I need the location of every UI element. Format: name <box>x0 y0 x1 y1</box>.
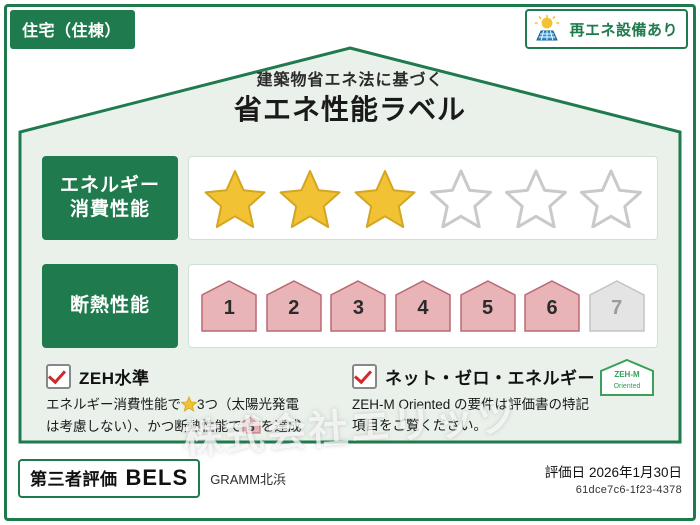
insulation-grade-3-label: 3 <box>328 297 388 320</box>
svg-text:Oriented: Oriented <box>614 383 641 390</box>
insulation-grade-4: 4 <box>393 278 453 334</box>
renewable-equipment-badge: 再エネ設備あり <box>525 9 688 49</box>
energy-performance-caption: エネルギー 消費性能 <box>42 156 178 240</box>
footer-bar: 第三者評価 BELS GRAMM北浜 評価日 2026年1月30日 61dce7… <box>18 452 682 504</box>
label-title: 省エネ性能ラベル <box>18 88 682 128</box>
zeh-desc-part2: 3つ（太陽光発電 <box>197 397 299 412</box>
insulation-grade-6-label: 6 <box>522 297 582 320</box>
builder-name: GRAMM北浜 <box>210 469 286 488</box>
inline-star-icon <box>181 396 197 412</box>
insulation-grade-1: 1 <box>199 278 259 334</box>
insulation-grade-2: 2 <box>264 278 324 334</box>
star-icon-6-empty <box>580 168 642 228</box>
zeh-m-oriented-icon: ZEH-M Oriented <box>598 358 656 398</box>
net-zero-energy-check: ネット・ゼロ・エネルギー ZEH-M Oriented ZEH-M Orient… <box>352 364 658 440</box>
certification-checks: ZEH水準 エネルギー消費性能で3つ（太陽光発電は考慮しない）、かつ断熱性能で5… <box>46 364 658 440</box>
insulation-grade-6: 6 <box>522 278 582 334</box>
third-party-eval-label: 第三者評価 <box>30 465 118 490</box>
net-zero-title: ネット・ゼロ・エネルギー <box>385 364 595 389</box>
inline-grade-value: 5 <box>242 418 261 437</box>
energy-star-rating <box>188 156 658 240</box>
zeh-standard-head: ZEH水準 <box>46 364 342 389</box>
insulation-grade-5: 5 <box>458 278 518 334</box>
inline-grade-house-icon: 5 <box>242 416 261 434</box>
insulation-grade-2-label: 2 <box>264 297 324 320</box>
label-subtitle: 建築物省エネ法に基づく <box>18 66 682 90</box>
energy-performance-row: エネルギー 消費性能 <box>42 156 658 240</box>
net-zero-desc-line2: 項目をご覧ください。 <box>352 418 487 433</box>
bels-badge: 第三者評価 BELS <box>18 459 200 498</box>
checkbox-checked-icon-netzero <box>352 364 377 389</box>
energy-caption-line1: エネルギー <box>60 174 160 198</box>
insulation-grade-1-label: 1 <box>199 297 259 320</box>
zeh-desc-line2-part1: は考慮しない）、かつ断熱性能で <box>46 419 242 434</box>
insulation-grade-scale: 1 2 3 <box>188 264 658 348</box>
star-icon-2-filled <box>279 168 341 228</box>
house-shaped-panel: 建築物省エネ法に基づく 省エネ性能ラベル エネルギー 消費性能 <box>18 46 682 444</box>
star-icon-4-empty <box>430 168 492 228</box>
zeh-desc-part1: エネルギー消費性能で <box>46 397 181 412</box>
zeh-standard-title: ZEH水準 <box>79 364 150 389</box>
insulation-caption-label: 断熱性能 <box>70 294 150 318</box>
energy-saving-performance-label: 住宅（住棟） <box>0 0 700 525</box>
insulation-grade-7-label: 7 <box>587 297 647 320</box>
insulation-performance-row: 断熱性能 1 2 <box>42 264 658 348</box>
insulation-grade-5-label: 5 <box>458 297 518 320</box>
star-icon-5-empty <box>505 168 567 228</box>
net-zero-description: ZEH-M Oriented の要件は評価書の特記項目をご覧ください。 <box>352 395 648 437</box>
insulation-grade-7: 7 <box>587 278 647 334</box>
renewable-badge-label: 再エネ設備あり <box>569 19 678 40</box>
evaluation-date: 評価日 2026年1月30日 <box>545 461 682 481</box>
insulation-performance-caption: 断熱性能 <box>42 264 178 348</box>
house-type-badge: 住宅（住棟） <box>10 10 135 49</box>
evaluation-id: 61dce7c6-1f23-4378 <box>545 484 682 496</box>
checkbox-checked-icon-zeh <box>46 364 71 389</box>
zeh-standard-description: エネルギー消費性能で3つ（太陽光発電は考慮しない）、かつ断熱性能で5を達成 <box>46 395 342 438</box>
energy-caption-line2: 消費性能 <box>70 198 150 222</box>
insulation-grade-3: 3 <box>328 278 388 334</box>
bels-label: BELS <box>126 465 189 491</box>
star-icon-1-filled <box>204 168 266 228</box>
star-icon-3-filled <box>354 168 416 228</box>
solar-panel-icon <box>532 14 562 44</box>
insulation-grade-4-label: 4 <box>393 297 453 320</box>
zeh-standard-check: ZEH水準 エネルギー消費性能で3つ（太陽光発電は考慮しない）、かつ断熱性能で5… <box>46 364 352 440</box>
svg-text:ZEH-M: ZEH-M <box>614 370 640 379</box>
net-zero-desc-line1: ZEH-M Oriented の要件は評価書の特記 <box>352 397 589 412</box>
evaluation-info: 評価日 2026年1月30日 61dce7c6-1f23-4378 <box>545 461 682 496</box>
zeh-desc-line2-part2: を達成 <box>261 419 302 434</box>
